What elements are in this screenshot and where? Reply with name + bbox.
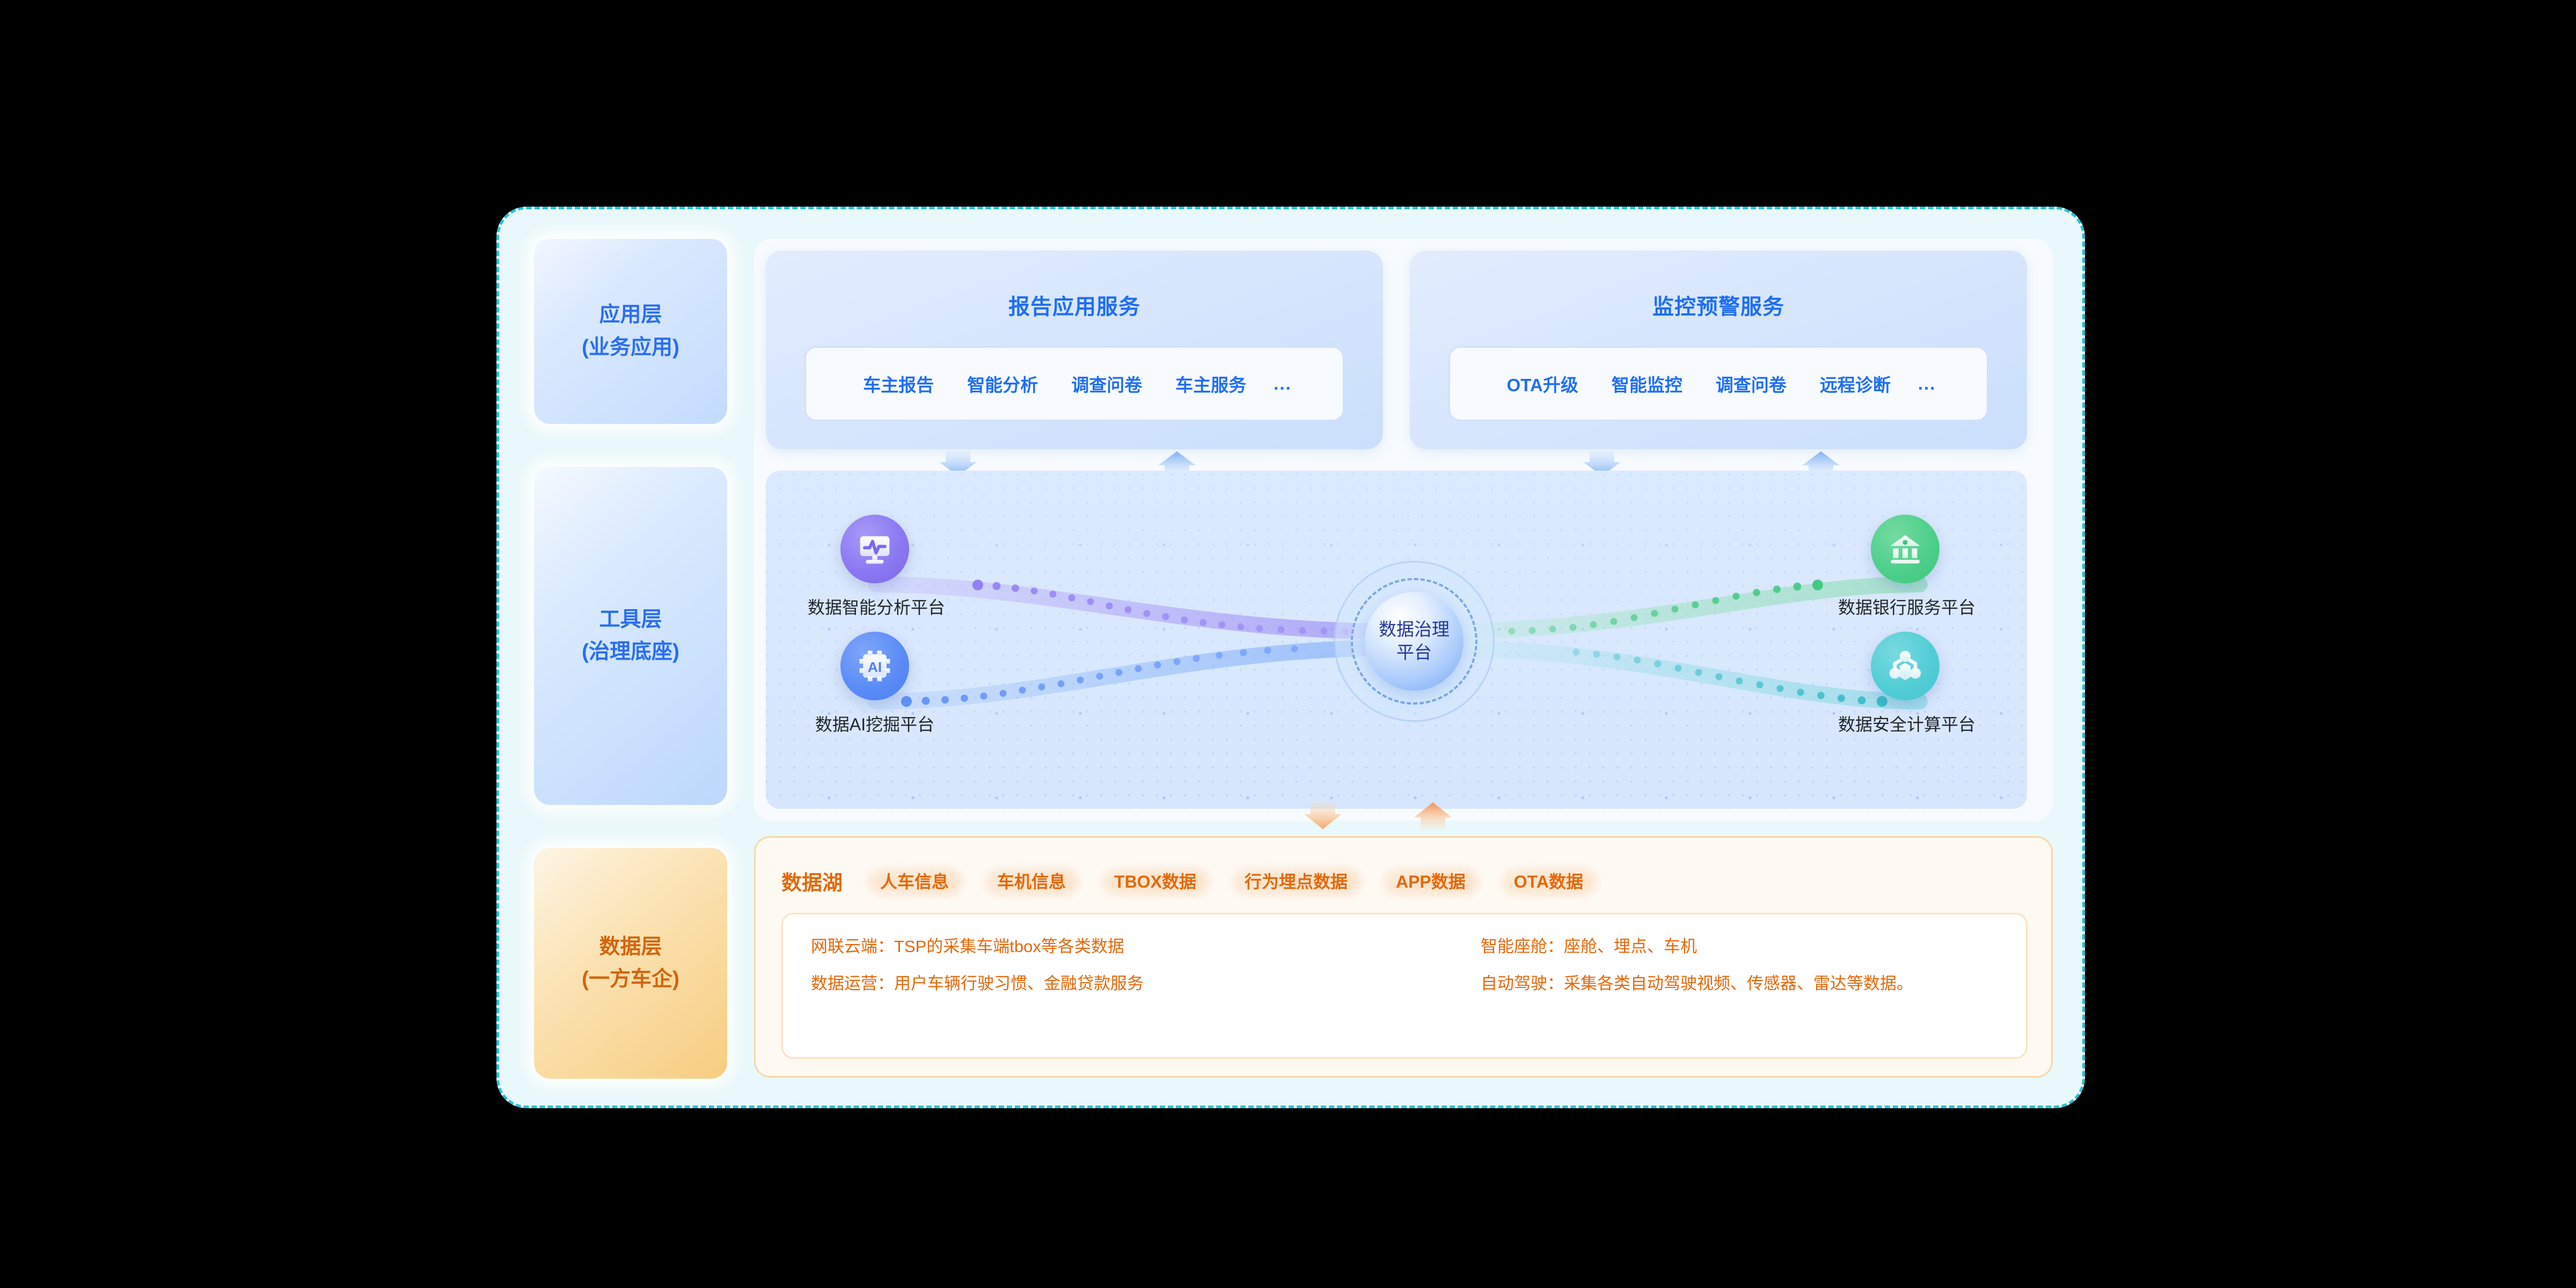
layer-chip-application[interactable]: 应用层 (业务应用) (534, 239, 727, 424)
description-smart-cockpit: 智能座舱：座舱、埋点、车机 (1481, 938, 1913, 955)
arrow-up-from-data-layer (1414, 802, 1452, 829)
description-column-right: 智能座舱：座舱、埋点、车机 自动驾驶：采集各类自动驾驶视频、传感器、雷达等数据。 (1481, 938, 1913, 1012)
node-label-data-bank-service: 数据银行服务平台 (1838, 594, 1972, 619)
service-item-more-monitoring[interactable]: ... (1907, 374, 1947, 394)
service-item-smart-analysis[interactable]: 智能分析 (950, 371, 1055, 397)
diagram-canvas: 应用层 (业务应用) 工具层 (治理底座) 数据层 (一方车企) 报告应用服务 … (0, 0, 2576, 1288)
arrow-down-to-data-layer (1304, 802, 1342, 829)
node-label-data-secure-computing: 数据安全计算平台 (1838, 711, 1972, 736)
node-bubble-blue: AI (840, 632, 909, 700)
service-item-smart-monitoring[interactable]: 智能监控 (1595, 371, 1699, 397)
hub-data-governance-platform[interactable]: 数据治理 平台 (1334, 561, 1495, 722)
layer-chip-data-line2: (一方车企) (582, 963, 679, 996)
data-lake-tag-tbox[interactable]: TBOX数据 (1096, 862, 1214, 899)
layer-chip-application-line1: 应用层 (599, 299, 662, 331)
description-column-left: 网联云端：TSP的采集车端tbox等各类数据 数据运营：用户车辆行驶习惯、金融贷… (811, 938, 1144, 1012)
service-item-more-report[interactable]: ... (1263, 374, 1302, 394)
hub-label-line1: 数据治理 (1379, 619, 1450, 639)
service-card-monitoring[interactable]: 监控预警服务 OTA升级 智能监控 调查问卷 远程诊断 ... (1410, 251, 2027, 449)
service-card-report[interactable]: 报告应用服务 车主报告 智能分析 调查问卷 车主服务 ... (766, 251, 1383, 449)
data-lake-tag-app[interactable]: APP数据 (1378, 862, 1484, 899)
service-item-remote-diagnosis[interactable]: 远程诊断 (1803, 371, 1907, 397)
description-connected-cloud: 网联云端：TSP的采集车端tbox等各类数据 (811, 938, 1144, 955)
description-data-operation: 数据运营：用户车辆行驶习惯、金融贷款服务 (811, 975, 1144, 992)
node-data-secure-computing-platform[interactable]: 数据安全计算平台 (1838, 632, 1972, 736)
data-layer-panel: 数据湖 人车信息 车机信息 TBOX数据 行为埋点数据 APP数据 OTA数据 … (754, 836, 2053, 1078)
service-card-report-title: 报告应用服务 (766, 289, 1383, 320)
layer-chip-tool-line1: 工具层 (599, 604, 662, 636)
data-lake-tag-behavior-tracking[interactable]: 行为埋点数据 (1226, 862, 1366, 899)
service-card-report-items: 车主报告 智能分析 调查问卷 车主服务 ... (804, 346, 1344, 421)
tool-layer-board: 数据智能分析平台 (766, 471, 2027, 809)
layer-chip-data-line1: 数据层 (599, 931, 662, 963)
layer-chip-tool-line2: (治理底座) (582, 636, 679, 668)
architecture-outer-frame: 应用层 (业务应用) 工具层 (治理底座) 数据层 (一方车企) 报告应用服务 … (496, 207, 2085, 1108)
service-item-ota-upgrade[interactable]: OTA升级 (1490, 371, 1595, 397)
data-lake-title: 数据湖 (781, 866, 843, 896)
data-lake-tag-person-vehicle[interactable]: 人车信息 (862, 862, 967, 899)
monitor-pulse-icon (854, 529, 895, 569)
service-card-monitoring-items: OTA升级 智能监控 调查问卷 远程诊断 ... (1448, 346, 1988, 421)
hub-core: 数据治理 平台 (1365, 592, 1463, 691)
layer-rail: 应用层 (业务应用) 工具层 (治理底座) 数据层 (一方车企) (534, 239, 727, 1081)
node-label-data-smart-analysis: 数据智能分析平台 (808, 594, 942, 619)
node-data-smart-analysis-platform[interactable]: 数据智能分析平台 (808, 515, 942, 619)
layer-chip-tool[interactable]: 工具层 (治理底座) (534, 467, 727, 805)
svg-text:AI: AI (868, 659, 882, 675)
service-item-owner-service[interactable]: 车主服务 (1159, 371, 1263, 397)
data-lake-tag-row: 数据湖 人车信息 车机信息 TBOX数据 行为埋点数据 APP数据 OTA数据 (781, 855, 1601, 906)
service-card-monitoring-title: 监控预警服务 (1410, 289, 2027, 320)
bank-icon (1886, 530, 1924, 568)
layer-chip-data[interactable]: 数据层 (一方车企) (534, 848, 727, 1079)
ai-chip-icon: AI (856, 647, 894, 685)
data-source-description-box: 网联云端：TSP的采集车端tbox等各类数据 数据运营：用户车辆行驶习惯、金融贷… (781, 913, 2028, 1059)
data-lake-tag-ota[interactable]: OTA数据 (1496, 862, 1601, 899)
security-network-icon (1886, 647, 1924, 685)
node-bubble-purple (840, 515, 909, 583)
node-bubble-teal (1871, 632, 1940, 700)
node-label-data-ai-mining: 数据AI挖掘平台 (808, 711, 942, 736)
service-item-questionnaire-2[interactable]: 调查问卷 (1699, 371, 1803, 397)
hub-label-line2: 平台 (1396, 642, 1432, 662)
node-bubble-green (1871, 515, 1940, 583)
service-item-questionnaire[interactable]: 调查问卷 (1055, 371, 1159, 397)
service-item-owner-report[interactable]: 车主报告 (846, 371, 950, 397)
node-data-bank-service-platform[interactable]: 数据银行服务平台 (1838, 515, 1972, 619)
layer-chip-application-line2: (业务应用) (582, 332, 679, 364)
data-lake-tag-vehicle-machine[interactable]: 车机信息 (979, 862, 1084, 899)
application-and-tool-panel: 报告应用服务 车主报告 智能分析 调查问卷 车主服务 ... 监控预警服务 OT… (754, 239, 2053, 821)
description-autonomous-driving: 自动驾驶：采集各类自动驾驶视频、传感器、雷达等数据。 (1481, 975, 1913, 992)
node-data-ai-mining-platform[interactable]: AI 数据AI挖掘平台 (808, 632, 942, 736)
